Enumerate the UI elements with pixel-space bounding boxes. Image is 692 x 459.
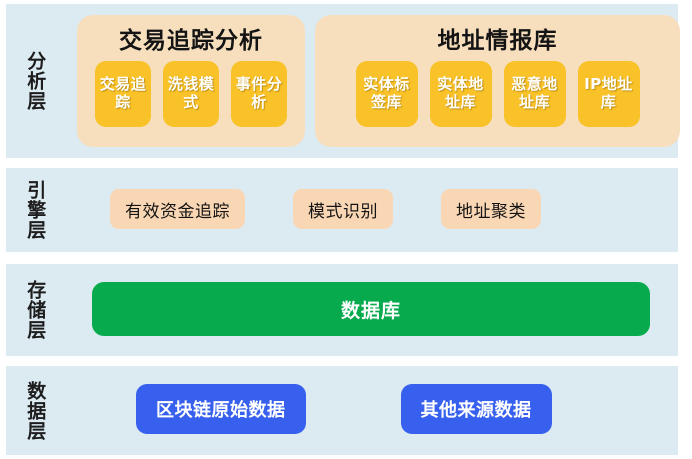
data-items-row: 区块链原始数据 其他来源数据 — [136, 384, 552, 434]
box-label-event-analysis: 事件分析 — [233, 76, 285, 111]
engine-item-label-effective-fund-tracing: 有效资金追踪 — [125, 197, 230, 222]
storage-item-label-database: 数据库 — [341, 296, 401, 323]
storage-item-database[interactable]: 数据库 — [92, 282, 650, 336]
engine-item-label-address-clustering: 地址聚类 — [456, 197, 526, 222]
architecture-diagram: 分析层 交易追踪分析 交易追踪 洗钱模式 事件分析 地址情报库 — [0, 0, 692, 459]
layer-analysis: 分析层 交易追踪分析 交易追踪 洗钱模式 事件分析 地址情报库 — [6, 4, 678, 158]
panel-transaction-tracing-analysis[interactable]: 交易追踪分析 交易追踪 洗钱模式 事件分析 — [77, 15, 305, 147]
layer-label-analysis: 分析层 — [6, 4, 64, 158]
layer-body-engine: 有效资金追踪 模式识别 地址聚类 — [64, 168, 678, 252]
box-transaction-tracing[interactable]: 交易追踪 — [95, 61, 151, 127]
layer-storage: 存储层 数据库 — [6, 264, 678, 356]
box-label-entity-address-library: 实体地址库 — [432, 76, 490, 111]
box-event-analysis[interactable]: 事件分析 — [231, 61, 287, 127]
panel-boxes-transaction: 交易追踪 洗钱模式 事件分析 — [77, 61, 305, 127]
box-malicious-address-library[interactable]: 恶意地址库 — [504, 61, 566, 127]
layer-body-data: 区块链原始数据 其他来源数据 — [64, 366, 678, 455]
engine-item-label-pattern-recognition: 模式识别 — [308, 197, 378, 222]
engine-items-row: 有效资金追踪 模式识别 地址聚类 — [110, 189, 541, 229]
panel-address-intelligence-library[interactable]: 地址情报库 实体标签库 实体地址库 恶意地址库 IP地址库 — [315, 15, 680, 147]
box-label-entity-label-library: 实体标签库 — [358, 76, 416, 111]
layer-body-storage: 数据库 — [64, 264, 678, 356]
box-label-malicious-address-library: 恶意地址库 — [506, 76, 564, 111]
engine-item-address-clustering[interactable]: 地址聚类 — [441, 189, 541, 229]
layer-data: 数据层 区块链原始数据 其他来源数据 — [6, 366, 678, 455]
data-item-label-other-source-data: 其他来源数据 — [421, 396, 532, 422]
layer-engine: 引擎层 有效资金追踪 模式识别 地址聚类 — [6, 168, 678, 252]
data-item-blockchain-raw-data[interactable]: 区块链原始数据 — [136, 384, 306, 434]
layer-label-data: 数据层 — [6, 366, 64, 455]
engine-item-pattern-recognition[interactable]: 模式识别 — [293, 189, 393, 229]
data-item-label-blockchain-raw-data: 区块链原始数据 — [156, 396, 286, 422]
engine-item-effective-fund-tracing[interactable]: 有效资金追踪 — [110, 189, 245, 229]
panel-title-address-intelligence-library: 地址情报库 — [315, 21, 680, 55]
panel-title-transaction-tracing-analysis: 交易追踪分析 — [77, 21, 305, 55]
layer-label-storage: 存储层 — [6, 264, 64, 356]
box-label-ip-address-library: IP地址库 — [580, 76, 638, 111]
layer-label-engine: 引擎层 — [6, 168, 64, 252]
box-label-money-laundering-pattern: 洗钱模式 — [165, 76, 217, 111]
layer-body-analysis: 交易追踪分析 交易追踪 洗钱模式 事件分析 地址情报库 — [64, 4, 678, 158]
data-item-other-source-data[interactable]: 其他来源数据 — [401, 384, 552, 434]
box-label-transaction-tracing: 交易追踪 — [97, 76, 149, 111]
box-money-laundering-pattern[interactable]: 洗钱模式 — [163, 61, 219, 127]
panel-boxes-address: 实体标签库 实体地址库 恶意地址库 IP地址库 — [315, 61, 680, 127]
box-ip-address-library[interactable]: IP地址库 — [578, 61, 640, 127]
box-entity-label-library[interactable]: 实体标签库 — [356, 61, 418, 127]
box-entity-address-library[interactable]: 实体地址库 — [430, 61, 492, 127]
